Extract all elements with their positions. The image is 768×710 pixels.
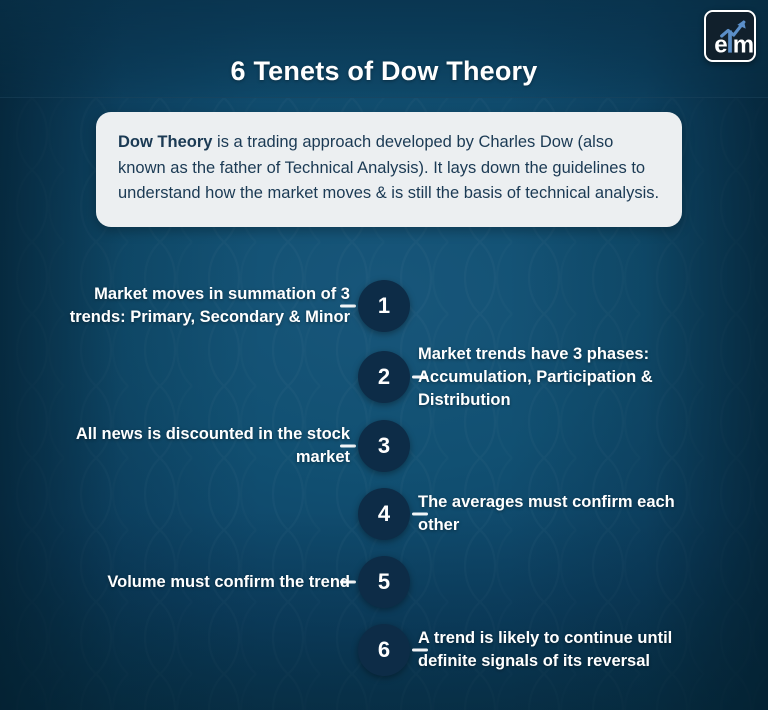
tenet-text-6: A trend is likely to continue until defi… [418, 627, 718, 673]
description-text: Dow Theory is a trading approach develop… [118, 130, 660, 207]
tenet-text-1: Market moves in summation of 3 trends: P… [50, 283, 350, 329]
description-lead: Dow Theory [118, 133, 212, 151]
elearnmarkets-logo-icon[interactable]: e m [704, 10, 756, 62]
tenets-list: Market moves in summation of 3 trends: P… [0, 270, 768, 684]
connector-dash-1 [340, 305, 356, 308]
tenet-item-3: All news is discounted in the stock mark… [0, 412, 768, 480]
tenet-text-5: Volume must confirm the trend [50, 571, 350, 594]
tenet-item-1: Market moves in summation of 3 trends: P… [0, 270, 768, 342]
connector-dash-4 [412, 513, 428, 516]
tenet-number-badge-6: 6 [358, 624, 410, 676]
tenet-number-badge-4: 4 [358, 488, 410, 540]
svg-text:m: m [733, 32, 754, 59]
description-card: Dow Theory is a trading approach develop… [96, 112, 682, 227]
tenet-item-4: 4 The averages must confirm each other [0, 480, 768, 548]
tenet-item-5: Volume must confirm the trend 5 [0, 548, 768, 616]
infographic-canvas: 6 Tenets of Dow Theory e m Dow Theory is… [0, 0, 768, 710]
tenet-number-badge-5: 5 [358, 556, 410, 608]
svg-text:e: e [714, 32, 727, 59]
tenet-text-2: Market trends have 3 phases: Accumulatio… [418, 343, 718, 412]
connector-dash-2 [412, 376, 428, 379]
tenet-item-6: 6 A trend is likely to continue until de… [0, 616, 768, 684]
tenet-text-4: The averages must confirm each other [418, 491, 718, 537]
connector-dash-5 [340, 581, 356, 584]
tenet-number-badge-1: 1 [358, 280, 410, 332]
tenet-number-badge-2: 2 [358, 351, 410, 403]
tenet-text-3: All news is discounted in the stock mark… [50, 423, 350, 469]
tenet-item-2: 2 Market trends have 3 phases: Accumulat… [0, 342, 768, 412]
page-title: 6 Tenets of Dow Theory [0, 56, 768, 87]
connector-dash-3 [340, 445, 356, 448]
tenet-number-badge-3: 3 [358, 420, 410, 472]
connector-dash-6 [412, 649, 428, 652]
